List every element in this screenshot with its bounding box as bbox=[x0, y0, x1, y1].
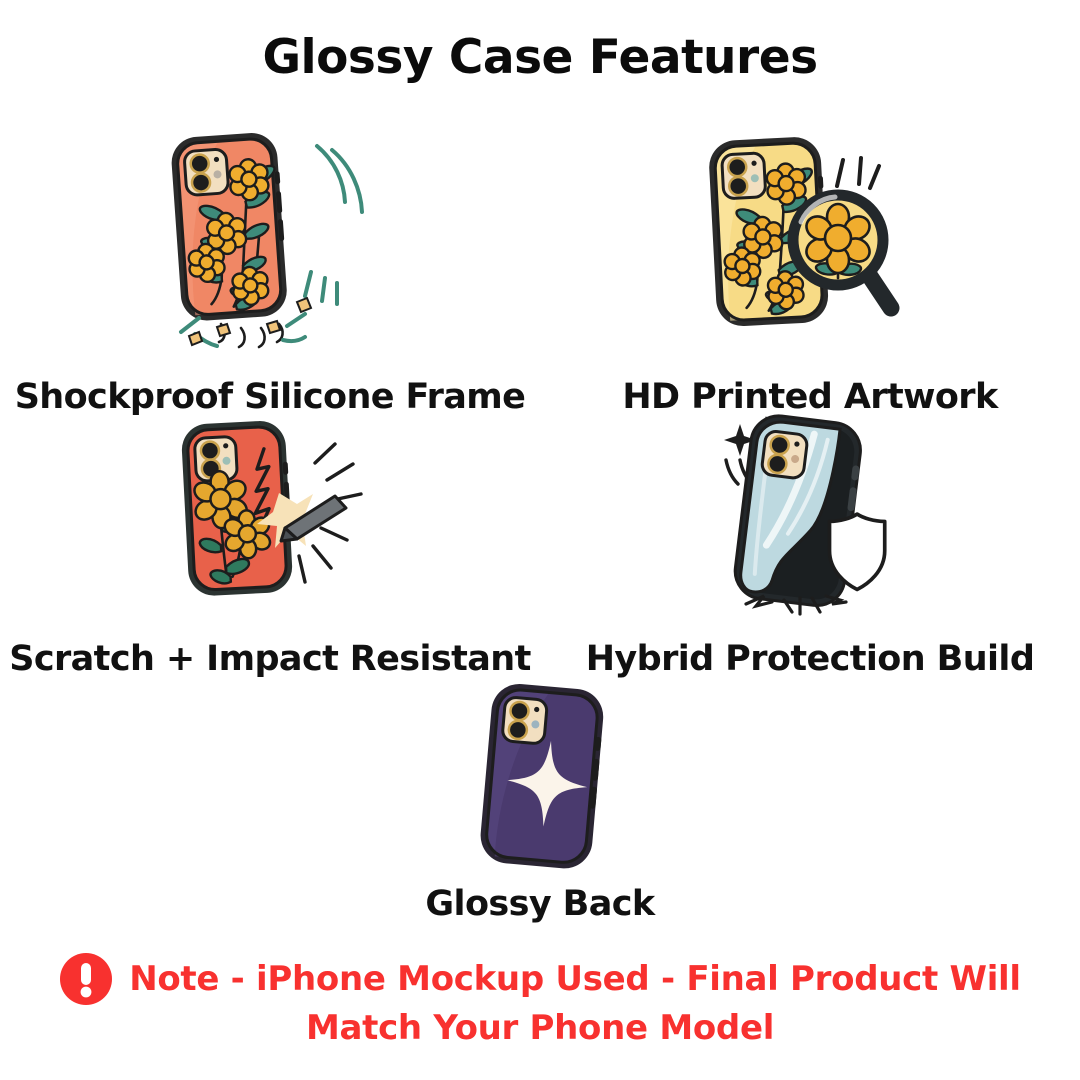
phone-case-shockproof-icon bbox=[155, 128, 385, 363]
feature-card-scratch-impact-resistant: Scratch + Impact Resistant bbox=[0, 408, 540, 679]
feature-label-glossy-back: Glossy Back bbox=[425, 884, 654, 924]
phone-case-magnifier-icon bbox=[695, 128, 925, 363]
exclamation-circle-icon bbox=[59, 952, 113, 1006]
feature-card-glossy-back: Glossy Back bbox=[270, 680, 810, 924]
phone-case-hybrid-shield-icon bbox=[708, 408, 913, 623]
page-title: Glossy Case Features bbox=[0, 30, 1080, 85]
note-text-line-2: Match Your Phone Model bbox=[306, 1008, 774, 1048]
feature-card-hybrid-protection-build: Hybrid Protection Build bbox=[540, 408, 1080, 679]
feature-card-hd-printed-artwork: HD Printed Artwork bbox=[540, 128, 1080, 417]
glossy-case-features-page: Glossy Case Features bbox=[0, 0, 1080, 1080]
note-line-1: Note - iPhone Mockup Used - Final Produc… bbox=[59, 952, 1021, 1006]
feature-label-scratch-impact-resistant: Scratch + Impact Resistant bbox=[9, 639, 531, 679]
phone-case-scratch-blade-icon bbox=[163, 408, 378, 623]
note-text-line-1: Note - iPhone Mockup Used - Final Produc… bbox=[129, 959, 1021, 999]
phone-case-glossy-sparkle-icon bbox=[450, 680, 630, 870]
feature-label-hybrid-protection-build: Hybrid Protection Build bbox=[586, 639, 1035, 679]
feature-card-shockproof-silicone-frame: Shockproof Silicone Frame bbox=[0, 128, 540, 417]
note-disclaimer: Note - iPhone Mockup Used - Final Produc… bbox=[0, 952, 1080, 1048]
